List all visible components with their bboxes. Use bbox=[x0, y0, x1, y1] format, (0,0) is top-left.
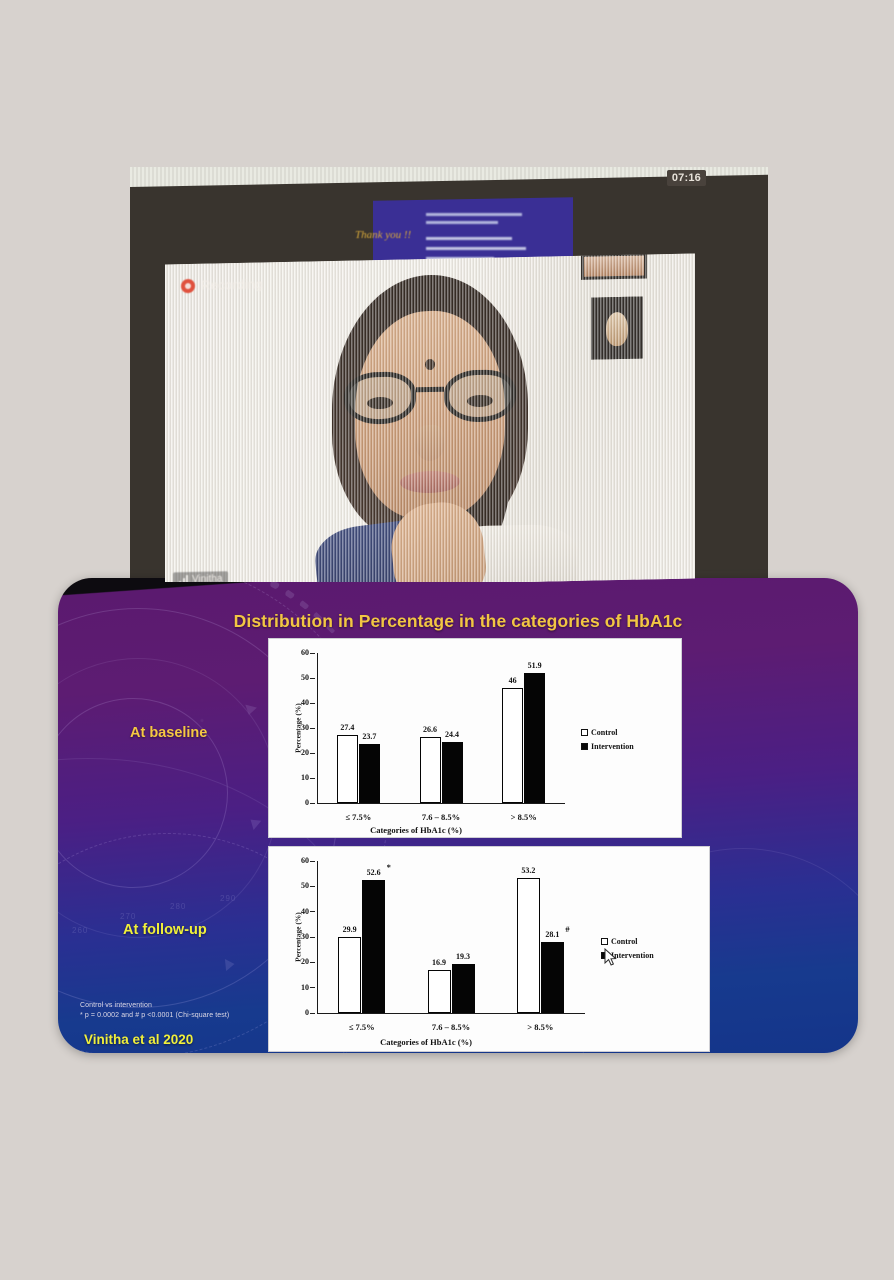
bar-control bbox=[517, 878, 540, 1013]
chart-label-baseline: At baseline bbox=[130, 725, 207, 741]
chart-label-followup: At follow-up bbox=[123, 922, 207, 938]
bar-value-label: 51.9 bbox=[528, 661, 542, 670]
legend-item: Control bbox=[601, 937, 654, 946]
legend-label: Intervention bbox=[611, 951, 654, 960]
x-axis-title: Categories of HbA1c (%) bbox=[269, 1037, 583, 1047]
meeting-timer: 07:16 bbox=[667, 170, 706, 186]
shared-slide-thanks-text: Thank you !! bbox=[355, 229, 411, 241]
y-axis-tick: 60 bbox=[287, 648, 309, 657]
legend-swatch-icon bbox=[601, 938, 608, 945]
decor-triangle bbox=[225, 958, 235, 971]
decor-triangle bbox=[243, 705, 257, 717]
chart-plot-area: Percentage (%)010203040506027.423.7≤ 7.5… bbox=[269, 639, 681, 837]
recording-indicator: Recording bbox=[181, 276, 263, 293]
slide-title: Distribution in Percentage in the catego… bbox=[58, 611, 858, 632]
bar-value-label: 27.4 bbox=[340, 723, 354, 732]
x-axis-tick: ≤ 7.5% bbox=[349, 1022, 375, 1032]
legend-label: Control bbox=[611, 937, 638, 946]
y-axis-tick: 20 bbox=[287, 748, 309, 757]
y-axis-line bbox=[317, 861, 318, 1013]
y-axis-tick: 40 bbox=[287, 698, 309, 707]
decor-ring bbox=[58, 658, 278, 938]
chart-baseline: Percentage (%)010203040506027.423.7≤ 7.5… bbox=[268, 638, 682, 838]
y-axis-line bbox=[317, 653, 318, 803]
footnote-line-2: * p = 0.0002 and # p <0.0001 (Chi-square… bbox=[80, 1011, 229, 1021]
bar-control bbox=[502, 688, 523, 803]
bar-intervention bbox=[359, 744, 380, 803]
bar-value-label: 16.9 bbox=[432, 958, 446, 967]
x-axis-tick: > 8.5% bbox=[527, 1022, 553, 1032]
y-axis-tick: 10 bbox=[287, 983, 309, 992]
bar-value-label: 46 bbox=[509, 676, 517, 685]
x-axis-line bbox=[317, 1013, 585, 1014]
shared-slide-text-line bbox=[426, 247, 526, 250]
bar-control bbox=[420, 737, 441, 804]
bar-intervention bbox=[524, 673, 545, 803]
chart-followup: Percentage (%)010203040506029.952.6*≤ 7.… bbox=[268, 846, 710, 1052]
webcam-video-tile[interactable]: Recording Vinitha bbox=[165, 253, 695, 582]
bar-value-label: 29.9 bbox=[343, 925, 357, 934]
microphone-level-icon bbox=[179, 575, 188, 582]
bar-control bbox=[428, 970, 451, 1013]
y-axis-tick: 30 bbox=[287, 723, 309, 732]
chart-plot-area: Percentage (%)010203040506029.952.6*≤ 7.… bbox=[269, 847, 709, 1051]
y-axis-tick: 0 bbox=[287, 798, 309, 807]
x-axis-tick: > 8.5% bbox=[511, 812, 537, 822]
bar-intervention bbox=[442, 742, 463, 803]
recording-label: Recording bbox=[201, 276, 263, 292]
significance-marker: * bbox=[387, 862, 391, 872]
participant-name-chip: Vinitha bbox=[173, 571, 228, 582]
bar-intervention bbox=[452, 964, 475, 1013]
y-axis-tick: 40 bbox=[287, 907, 309, 916]
participant-name-label: Vinitha bbox=[192, 573, 222, 582]
bar-intervention bbox=[541, 942, 564, 1013]
y-axis-tick: 20 bbox=[287, 957, 309, 966]
y-axis-tick: 50 bbox=[287, 673, 309, 682]
x-axis-line bbox=[317, 803, 565, 804]
y-axis-tick: 30 bbox=[287, 932, 309, 941]
x-axis-tick: ≤ 7.5% bbox=[345, 812, 371, 822]
y-axis-tick: 50 bbox=[287, 881, 309, 890]
bar-value-label: 19.3 bbox=[456, 952, 470, 961]
bar-value-label: 52.6 bbox=[367, 868, 381, 877]
chart-legend: ControlIntervention bbox=[581, 728, 634, 756]
bar-value-label: 28.1 bbox=[545, 930, 559, 939]
bar-intervention bbox=[362, 880, 385, 1013]
mouse-cursor-icon bbox=[604, 948, 617, 967]
bar-value-label: 53.2 bbox=[521, 866, 535, 875]
footnote-line-1: Control vs intervention bbox=[80, 1001, 229, 1011]
decor-triangle bbox=[247, 815, 262, 830]
y-axis-tick: 0 bbox=[287, 1008, 309, 1017]
legend-swatch-icon bbox=[581, 729, 588, 736]
shared-slide-text-line bbox=[426, 237, 512, 240]
record-icon bbox=[181, 278, 195, 292]
bar-value-label: 24.4 bbox=[445, 730, 459, 739]
significance-marker: # bbox=[565, 924, 569, 934]
legend-item: Intervention bbox=[581, 742, 634, 751]
shared-slide-text-line bbox=[426, 213, 522, 216]
bar-value-label: 23.7 bbox=[362, 732, 376, 741]
shared-slide-text-line bbox=[426, 221, 498, 224]
x-axis-tick: 7.6 – 8.5% bbox=[432, 1022, 470, 1032]
y-axis-tick: 60 bbox=[287, 856, 309, 865]
legend-label: Intervention bbox=[591, 742, 634, 751]
x-axis-tick: 7.6 – 8.5% bbox=[422, 812, 460, 822]
legend-item: Control bbox=[581, 728, 634, 737]
bar-control bbox=[337, 735, 358, 804]
slide-citation: Vinitha et al 2020 bbox=[84, 1032, 193, 1047]
y-axis-tick: 10 bbox=[287, 773, 309, 782]
video-call-panel: Thank you !! bbox=[130, 167, 768, 582]
x-axis-title: Categories of HbA1c (%) bbox=[269, 825, 563, 835]
legend-swatch-icon bbox=[581, 743, 588, 750]
slide-footnote: Control vs intervention * p = 0.0002 and… bbox=[80, 1001, 229, 1021]
screen-moire-overlay bbox=[165, 253, 695, 582]
bar-control bbox=[338, 937, 361, 1013]
screenshot-root: Thank you !! bbox=[0, 0, 894, 1280]
bar-value-label: 26.6 bbox=[423, 725, 437, 734]
legend-label: Control bbox=[591, 728, 618, 737]
